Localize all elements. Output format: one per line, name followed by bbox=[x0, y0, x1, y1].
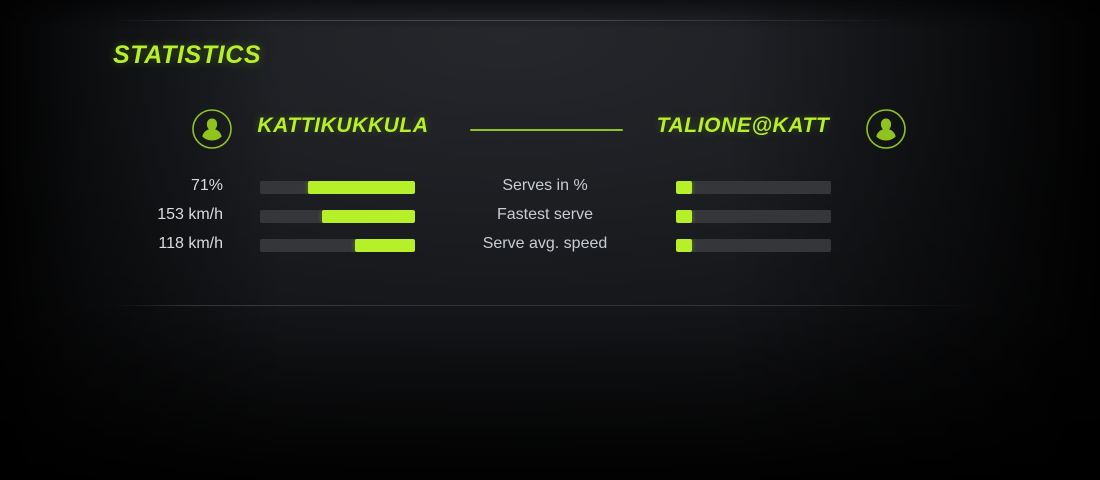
stat-bar-right-fill bbox=[676, 239, 692, 252]
player-name-left: KATTIKUKKULA bbox=[253, 114, 433, 138]
top-divider bbox=[112, 20, 890, 21]
stat-row: 71% Serves in % bbox=[113, 176, 979, 205]
statistics-panel: STATISTICS KATTIKUKKULA TALIONE@KATT bbox=[0, 0, 1100, 480]
stat-bar-right-fill bbox=[676, 210, 692, 223]
avatar-left[interactable] bbox=[191, 108, 233, 150]
stat-label: Serve avg. speed bbox=[390, 234, 700, 254]
player-name-right: TALIONE@KATT bbox=[653, 114, 833, 138]
statistics-screen: STATISTICS KATTIKUKKULA TALIONE@KATT bbox=[0, 0, 1100, 480]
stat-bar-right bbox=[676, 239, 831, 252]
stat-bar-right-fill bbox=[676, 181, 692, 194]
stat-bar-right bbox=[676, 181, 831, 194]
stat-bar-right bbox=[676, 210, 831, 223]
stats-list: 71% Serves in % 153 km/h Fastest serve bbox=[113, 176, 979, 263]
stat-label: Fastest serve bbox=[390, 205, 700, 225]
stat-row: 153 km/h Fastest serve bbox=[113, 205, 979, 234]
stat-row: 118 km/h Serve avg. speed bbox=[113, 234, 979, 263]
stat-value-left: 153 km/h bbox=[113, 205, 223, 225]
stat-value-left: 71% bbox=[113, 176, 223, 196]
bottom-divider bbox=[112, 305, 978, 306]
stat-value-left: 118 km/h bbox=[113, 234, 223, 254]
players-divider bbox=[470, 129, 623, 131]
avatar-right[interactable] bbox=[865, 108, 907, 150]
players-header: KATTIKUKKULA TALIONE@KATT bbox=[113, 108, 979, 154]
page-title: STATISTICS bbox=[113, 41, 261, 70]
stat-label: Serves in % bbox=[390, 176, 700, 196]
